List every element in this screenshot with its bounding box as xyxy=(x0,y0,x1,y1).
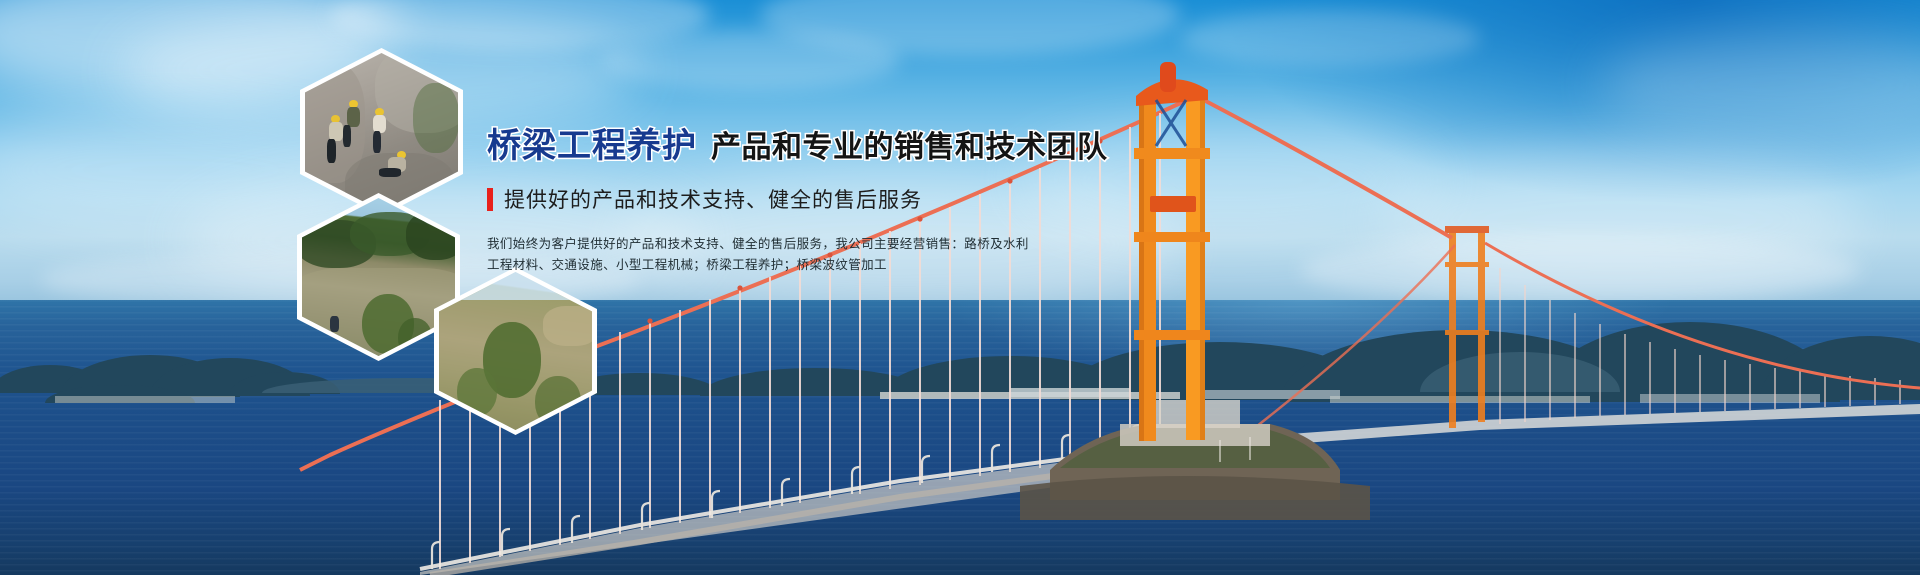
worker xyxy=(330,316,339,332)
shrub xyxy=(457,368,497,416)
hero-banner: 桥梁工程养护 产品和专业的销售和技术团队 提供好的产品和技术支持、健全的售后服务… xyxy=(0,0,1920,575)
worker-legs xyxy=(343,125,351,147)
vegetation xyxy=(413,83,458,153)
subheading-text: 提供好的产品和技术支持、健全的售后服务 xyxy=(504,184,922,214)
subheading: 提供好的产品和技术支持、健全的售后服务 xyxy=(487,184,1047,214)
worker-legs xyxy=(379,168,401,177)
shrub xyxy=(398,318,432,356)
worker-body xyxy=(347,107,360,127)
hex-photo-slope-netting-workers xyxy=(300,48,463,216)
dirt-patch xyxy=(543,306,592,346)
worker-legs xyxy=(373,131,381,153)
description-paragraph: 我们始终为客户提供好的产品和技术支持、健全的售后服务，我公司主要经营销售：路桥及… xyxy=(487,234,917,276)
headline-main: 桥梁工程养护 xyxy=(487,118,697,167)
banner-copy: 桥梁工程养护 产品和专业的销售和技术团队 提供好的产品和技术支持、健全的售后服务… xyxy=(487,118,1047,276)
headline: 桥梁工程养护 产品和专业的销售和技术团队 xyxy=(487,118,1047,167)
tree-line xyxy=(406,210,455,260)
suspension-bridge xyxy=(0,0,1920,575)
description-line-2: 工程材料、交通设施、小型工程机械；桥梁工程养护；桥梁波纹管加工 xyxy=(487,255,917,276)
description-line-1: 我们始终为客户提供好的产品和技术支持、健全的售后服务，我公司主要经营销售：路桥及… xyxy=(487,234,917,255)
worker-legs xyxy=(327,139,336,163)
accent-bar-icon xyxy=(487,188,493,211)
headline-sub: 产品和专业的销售和技术团队 xyxy=(711,122,1108,166)
hex-photo-embankment-netting xyxy=(434,267,597,435)
